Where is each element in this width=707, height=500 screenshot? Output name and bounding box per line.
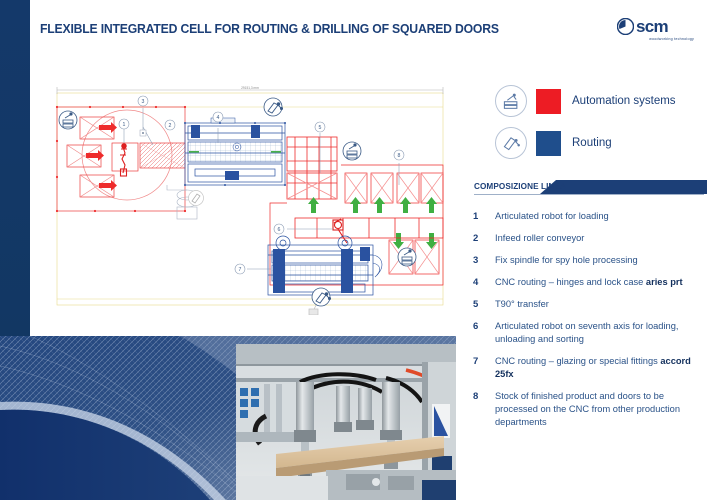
composition-header: COMPOSIZIONE LINEA (464, 178, 707, 200)
svg-text:1: 1 (123, 122, 126, 128)
list-item-number: 7 (464, 355, 495, 381)
list-item: 1 Articulated robot for loading (464, 210, 703, 223)
list-item-text: T90° transfer (495, 298, 549, 311)
list-item-number: 2 (464, 232, 495, 245)
scm-circle-logo-icon (617, 18, 634, 35)
list-item-text: Infeed roller conveyor (495, 232, 584, 245)
list-item-number: 5 (464, 298, 495, 311)
svg-text:2: 2 (169, 123, 172, 129)
list-item-text: Articulated robot for loading (495, 210, 609, 223)
svg-text:4: 4 (217, 115, 220, 121)
list-item: 8 Stock of finished product and doors to… (464, 390, 703, 429)
cnc-drilling-heads-photo (236, 344, 456, 500)
list-item-number: 6 (464, 320, 495, 346)
scm-tagline: woodworking technology (617, 37, 695, 41)
legend-label-automation: Automation systems (572, 95, 676, 107)
composition-heading: COMPOSIZIONE LINEA (474, 181, 566, 191)
technical-layout-drawing: 29151,3 mm (55, 85, 445, 315)
list-item: 4 CNC routing – hinges and lock case ari… (464, 276, 703, 289)
list-item: 2 Infeed roller conveyor (464, 232, 703, 245)
legend-row-automation: Automation systems (495, 80, 700, 122)
legend-row-routing: Routing (495, 122, 700, 164)
scm-wordmark: scm (636, 18, 668, 35)
svg-text:8: 8 (398, 153, 401, 159)
page-title: FLEXIBLE INTEGRATED CELL FOR ROUTING & D… (40, 22, 499, 36)
list-item-text: CNC routing – glazing or special fitting… (495, 355, 700, 381)
automation-systems-icon (495, 85, 527, 117)
bottom-image-band (0, 336, 456, 500)
left-accent-strip (0, 0, 30, 336)
svg-text:6: 6 (278, 227, 281, 233)
list-item: 7 CNC routing – glazing or special fitti… (464, 355, 703, 381)
list-item-number: 4 (464, 276, 495, 289)
list-item-number: 1 (464, 210, 495, 223)
routing-icon (495, 127, 527, 159)
automation-color-swatch (536, 89, 561, 114)
composition-list: 1 Articulated robot for loading 2 Infeed… (464, 210, 703, 438)
list-item-text: Articulated robot on seventh axis for lo… (495, 320, 700, 346)
list-item: 5 T90° transfer (464, 298, 703, 311)
svg-text:3: 3 (142, 99, 145, 105)
legend: Automation systems Routing (495, 80, 700, 164)
composition-rule (474, 194, 704, 195)
list-item-number: 8 (464, 390, 495, 429)
scm-logo: scm woodworking technology (617, 18, 695, 50)
list-item-text: Fix spindle for spy hole processing (495, 254, 638, 267)
routing-color-swatch (536, 131, 561, 156)
list-item: 6 Articulated robot on seventh axis for … (464, 320, 703, 346)
svg-text:29151,3 mm: 29151,3 mm (241, 86, 259, 90)
list-item-text: Stock of finished product and doors to b… (495, 390, 700, 429)
slide-root: FLEXIBLE INTEGRATED CELL FOR ROUTING & D… (0, 0, 707, 500)
slide-header: FLEXIBLE INTEGRATED CELL FOR ROUTING & D… (30, 0, 707, 60)
legend-label-routing: Routing (572, 137, 612, 149)
svg-text:7: 7 (239, 267, 242, 273)
svg-text:5: 5 (319, 125, 322, 131)
list-item: 3 Fix spindle for spy hole processing (464, 254, 703, 267)
list-item-number: 3 (464, 254, 495, 267)
list-item-text: CNC routing – hinges and lock case aries… (495, 276, 683, 289)
